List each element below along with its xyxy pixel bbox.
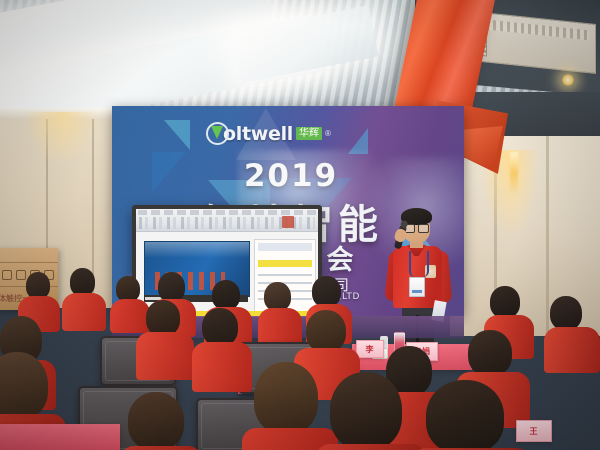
audience-head [312,276,341,307]
audience-shirt [258,308,302,346]
audience-head [70,268,95,296]
audience-head [212,280,240,310]
name-card-text: 李 [366,344,375,355]
audience-head [264,282,291,311]
left-wall-lamp-glow [24,112,98,164]
audience-head [128,392,184,450]
audience-head [306,310,346,352]
name-card-text: 王 [530,426,539,437]
audience-head [490,286,520,318]
voltwell-v-checkmark-icon [206,122,229,145]
audience-head [254,362,318,434]
name-card: 王 [516,420,552,442]
audience-shirt [110,299,150,333]
audience-shirt [62,293,106,331]
ribbon-red-button-icon [282,216,294,228]
audience-head [550,296,582,330]
presenter-badge [409,277,425,297]
document-highlight [258,260,312,267]
audience-head [26,272,50,299]
ribbon-tabs [138,210,316,215]
brand-wordmark: oltwell [223,123,293,145]
conference-photo-scene: oltwell 华辉 ® 2019 智墙智能 会 技有限公司 CHNOLOGY … [0,0,600,450]
video-glow [145,242,249,258]
document-title-bar [258,243,312,251]
audience-head [202,308,238,346]
brand-chinese-mark: 华辉 [296,127,322,140]
audience-head [468,330,512,376]
audience-shirt [192,342,252,392]
office-ribbon-toolbar [136,209,318,232]
audience-head [146,300,180,336]
registered-trademark-icon: ® [325,129,331,138]
audience-shirt [120,446,202,450]
audience-shirt [316,444,426,450]
name-card: 李 [356,340,384,358]
glasses-icon [404,224,429,231]
audience-shirt [544,327,600,373]
presenter-lanyard [409,251,429,277]
ceiling-spotlight [562,74,574,86]
audience-shirt [136,332,194,380]
audience-head [426,380,504,450]
banner-triangle-icon [164,120,190,150]
banner-triangle-icon [152,152,186,192]
audience-head [158,272,185,302]
table-cloth [0,424,120,450]
right-wall-lamp [510,152,518,194]
audience-head [330,372,402,450]
voltwell-logo: oltwell 华辉 ® [206,122,331,145]
